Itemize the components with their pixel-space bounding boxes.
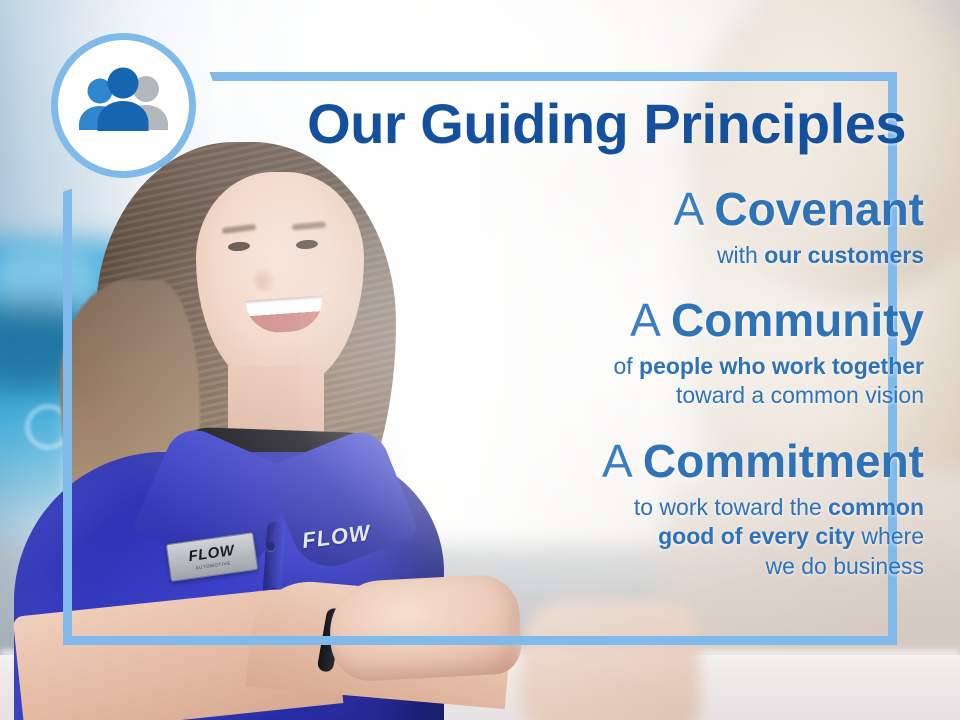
principle-community: A Community of people who work togethert… [280,296,924,411]
principle-article: A [602,435,630,487]
principle-title: A Commitment [280,437,924,486]
employee-clasped-hands [328,573,523,683]
principle-article: A [673,183,701,235]
principle-word: Covenant [714,183,924,235]
principle-subtext: to work toward the commongood of every c… [280,493,924,583]
principle-covenant: A Covenant with our customers [280,185,924,270]
plain-text: with [717,242,764,268]
employee-nose [253,266,277,292]
emphasis-text: good of every city [658,523,855,549]
emphasis-text: common [828,494,924,520]
principles-list: A Covenant with our customers A Communit… [280,185,924,582]
principle-commitment: A Commitment to work toward the commongo… [280,437,924,582]
principle-title: A Community [280,296,924,345]
principle-subtext: with our customers [280,241,924,270]
principle-word: Commitment [643,435,924,487]
plain-text: to work toward the [634,494,828,520]
plain-text: of [613,353,639,379]
plain-text: toward a common vision [676,382,924,408]
employee-shirt-button [266,542,275,551]
principle-subtext: of people who work togethertoward a comm… [280,352,924,411]
plain-text: we do business [765,553,924,579]
poster-canvas: FLOW AUTOMOTIVE FLOW [0,0,960,720]
principle-article: A [630,294,658,346]
blurred-customer-hand [520,600,700,720]
principle-word: Community [671,294,924,346]
principle-title: A Covenant [280,185,924,234]
emphasis-text: people who work together [639,353,924,379]
page-title: Our Guiding Principles [0,96,906,152]
plain-text: where [855,523,924,549]
emphasis-text: our customers [764,242,924,268]
